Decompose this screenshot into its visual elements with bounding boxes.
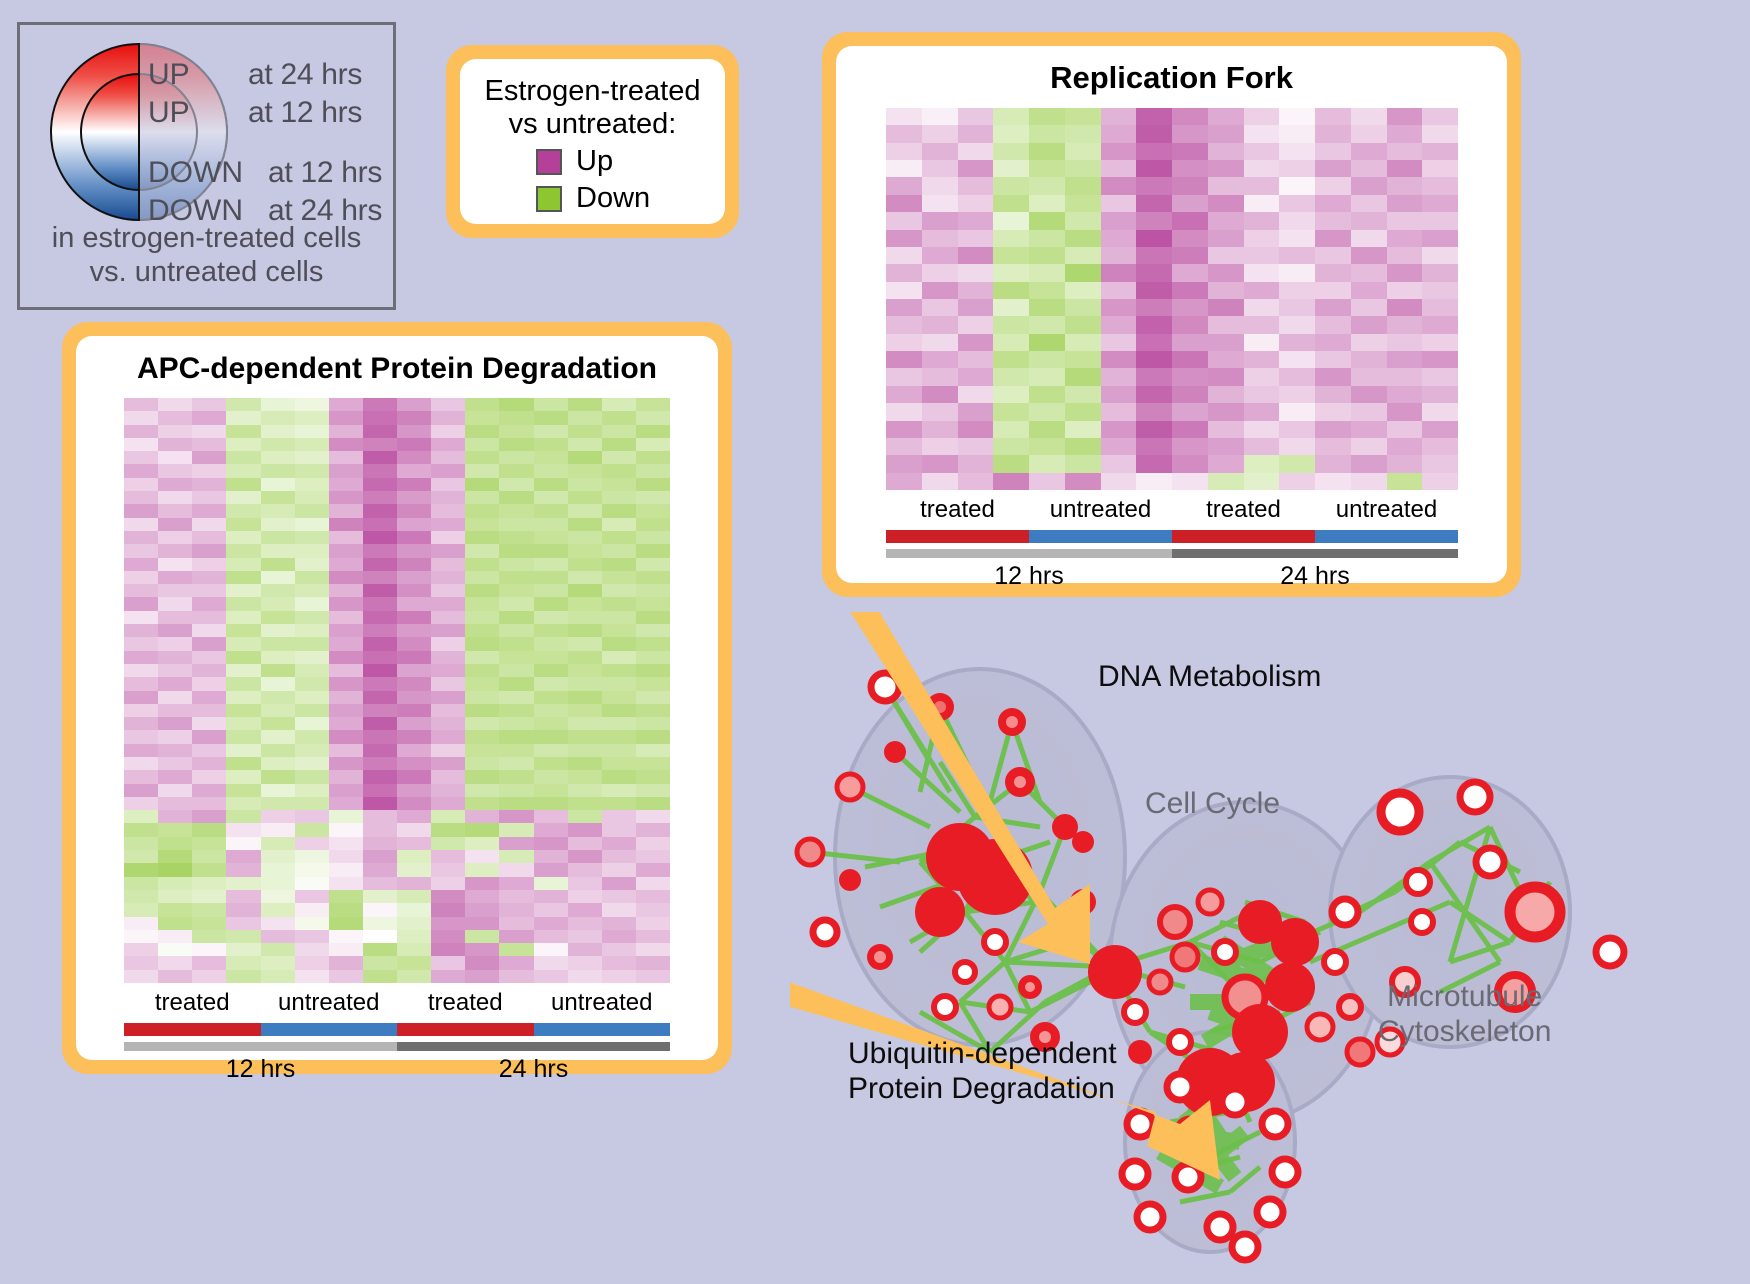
heatmap-cell [499, 584, 533, 597]
heatmap-cell [636, 584, 670, 597]
heatmap-group-label: treated [397, 989, 534, 1017]
heatmap-cell [261, 637, 295, 650]
heatmap-cell [636, 837, 670, 850]
legend-note-line2: vs. untreated cells [20, 255, 393, 289]
heatmap-cell [158, 903, 192, 916]
heatmap-cell [261, 677, 295, 690]
heatmap-cell [568, 930, 602, 943]
heatmap-cell [295, 558, 329, 571]
heatmap-cell [465, 518, 499, 531]
heatmap-cell [397, 558, 431, 571]
heatmap-cell [1279, 368, 1315, 385]
heatmap-cell [1101, 334, 1137, 351]
heatmap-cell [636, 770, 670, 783]
heatmap-cell [329, 478, 363, 491]
heatmap-cell [568, 464, 602, 477]
heatmap-cell [295, 611, 329, 624]
updown-legend-panel: Estrogen-treated vs untreated: Up Down [446, 45, 739, 238]
heatmap-cell [958, 143, 994, 160]
heatmap-cell [397, 970, 431, 983]
heatmap-cell [1422, 403, 1458, 420]
heatmap-cell [261, 956, 295, 969]
heatmap-cell [636, 451, 670, 464]
heatmap-cell [1315, 264, 1351, 281]
heatmap-cell [363, 704, 397, 717]
heatmap-cell [1208, 282, 1244, 299]
heatmap-cell [465, 757, 499, 770]
heatmap-cell [636, 930, 670, 943]
heatmap-cell [1136, 455, 1172, 472]
heatmap-cell [261, 491, 295, 504]
heatmap-cell [534, 717, 568, 730]
heatmap-cell [534, 903, 568, 916]
heatmap-cell [226, 744, 260, 757]
heatmap-cell [568, 704, 602, 717]
heatmap-cell [568, 970, 602, 983]
heatmap-cell [363, 823, 397, 836]
heatmap-cell [1101, 438, 1137, 455]
heatmap-cell [993, 438, 1029, 455]
heatmap-cell [993, 195, 1029, 212]
cluster-label-microtubule: Microtubule Cytoskeleton [1378, 980, 1551, 1050]
heatmap-cell [397, 677, 431, 690]
heatmap-cell [1422, 386, 1458, 403]
heatmap-cell [602, 518, 636, 531]
heatmap-cell [1422, 160, 1458, 177]
heatmap-cell [568, 917, 602, 930]
heatmap-cell [1029, 160, 1065, 177]
heatmap-cell [124, 890, 158, 903]
heatmap-cell [465, 491, 499, 504]
heatmap-cell [1065, 160, 1101, 177]
heatmap-cell [1208, 438, 1244, 455]
heatmap-cell [1279, 334, 1315, 351]
heatmap-cell [1029, 473, 1065, 490]
heatmap-cell [465, 903, 499, 916]
heatmap-cell [363, 863, 397, 876]
heatmap-cell [1065, 421, 1101, 438]
heatmap-cell [261, 810, 295, 823]
heatmap-cell [397, 890, 431, 903]
heatmap-cell [397, 930, 431, 943]
heatmap-cell [397, 597, 431, 610]
heatmap-cell [192, 398, 226, 411]
heatmap-cell [993, 455, 1029, 472]
heatmap-cell [1387, 160, 1423, 177]
heatmap-cell [499, 411, 533, 424]
heatmap-cell [431, 597, 465, 610]
heatmap-cell [295, 744, 329, 757]
heatmap-cell [958, 473, 994, 490]
heatmap-cell [1136, 264, 1172, 281]
heatmap-cell [1101, 455, 1137, 472]
heatmap-cell [636, 970, 670, 983]
heatmap-cell [329, 704, 363, 717]
heatmap-cell [602, 784, 636, 797]
heatmap-cell [465, 478, 499, 491]
heatmap-cell [124, 757, 158, 770]
up-label: Up [576, 145, 613, 178]
heatmap-cell [1172, 299, 1208, 316]
heatmap-cell [886, 143, 922, 160]
heatmap-cell [534, 464, 568, 477]
heatmap-cell [499, 850, 533, 863]
heatmap-cell [192, 411, 226, 424]
replication-fork-group-labels: treateduntreatedtreateduntreated [886, 496, 1458, 524]
heatmap-cell [192, 637, 226, 650]
heatmap-cell [158, 863, 192, 876]
heatmap-cell [1422, 264, 1458, 281]
heatmap-cell [192, 823, 226, 836]
treatment-color-bar-segment [1029, 530, 1172, 543]
heatmap-cell [568, 717, 602, 730]
heatmap-cell [602, 664, 636, 677]
heatmap-cell [602, 903, 636, 916]
heatmap-cell [1387, 282, 1423, 299]
heatmap-cell [226, 943, 260, 956]
heatmap-cell [1065, 386, 1101, 403]
heatmap-cell [636, 717, 670, 730]
heatmap-time-label: 12 hrs [886, 562, 1172, 591]
heatmap-cell [534, 943, 568, 956]
heatmap-cell [397, 704, 431, 717]
heatmap-cell [124, 810, 158, 823]
heatmap-cell [499, 637, 533, 650]
heatmap-cell [261, 970, 295, 983]
heatmap-cell [363, 624, 397, 637]
heatmap-cell [1387, 125, 1423, 142]
heatmap-cell [1136, 230, 1172, 247]
treatment-color-bar-segment [261, 1023, 398, 1036]
heatmap-cell [158, 544, 192, 557]
heatmap-cell [1422, 473, 1458, 490]
heatmap-cell [922, 473, 958, 490]
heatmap-cell [1351, 438, 1387, 455]
heatmap-cell [568, 518, 602, 531]
heatmap-cell [1422, 177, 1458, 194]
heatmap-cell [499, 504, 533, 517]
heatmap-cell [192, 863, 226, 876]
heatmap-cell [465, 770, 499, 783]
heatmap-cell [1208, 177, 1244, 194]
heatmap-cell [295, 651, 329, 664]
heatmap-cell [1279, 212, 1315, 229]
heatmap-cell [1351, 334, 1387, 351]
heatmap-cell [1172, 282, 1208, 299]
legend-item-down: Down [536, 182, 725, 215]
heatmap-cell [1136, 160, 1172, 177]
heatmap-cell [295, 970, 329, 983]
heatmap-cell [431, 677, 465, 690]
heatmap-cell [226, 438, 260, 451]
heatmap-cell [1279, 351, 1315, 368]
heatmap-cell [363, 691, 397, 704]
heatmap-cell [534, 504, 568, 517]
heatmap-cell [397, 823, 431, 836]
heatmap-cell [363, 425, 397, 438]
heatmap-cell [295, 504, 329, 517]
heatmap-cell [124, 863, 158, 876]
heatmap-cell [465, 850, 499, 863]
heatmap-cell [124, 425, 158, 438]
heatmap-cell [158, 930, 192, 943]
heatmap-cell [295, 784, 329, 797]
heatmap-cell [1101, 212, 1137, 229]
heatmap-cell [499, 943, 533, 956]
heatmap-cell [1279, 160, 1315, 177]
heatmap-cell [1136, 177, 1172, 194]
heatmap-cell [534, 425, 568, 438]
heatmap-cell [363, 597, 397, 610]
heatmap-cell [261, 730, 295, 743]
heatmap-cell [568, 425, 602, 438]
heatmap-cell [1136, 195, 1172, 212]
updown-title-line2: vs untreated: [460, 108, 725, 141]
heatmap-cell [295, 518, 329, 531]
cluster-label-ubiquitin: Ubiquitin-dependent Protein Degradation [848, 1037, 1117, 1107]
heatmap-cell [1065, 299, 1101, 316]
heatmap-cell [363, 651, 397, 664]
heatmap-cell [499, 451, 533, 464]
heatmap-cell [124, 917, 158, 930]
heatmap-group-label: untreated [1029, 496, 1172, 524]
heatmap-cell [1136, 299, 1172, 316]
heatmap-cell [158, 637, 192, 650]
heatmap-cell [1244, 195, 1280, 212]
heatmap-cell [922, 299, 958, 316]
heatmap-cell [534, 930, 568, 943]
heatmap-cell [329, 464, 363, 477]
heatmap-cell [158, 597, 192, 610]
heatmap-cell [886, 403, 922, 420]
heatmap-cell [568, 823, 602, 836]
heatmap-cell [534, 438, 568, 451]
heatmap-cell [431, 451, 465, 464]
heatmap-cell [636, 784, 670, 797]
heatmap-cell [568, 744, 602, 757]
heatmap-cell [1136, 282, 1172, 299]
heatmap-cell [192, 797, 226, 810]
heatmap-cell [1279, 386, 1315, 403]
heatmap-cell [1315, 247, 1351, 264]
heatmap-cell [226, 837, 260, 850]
heatmap-cell [226, 691, 260, 704]
heatmap-cell [958, 125, 994, 142]
heatmap-cell [431, 544, 465, 557]
heatmap-cell [602, 611, 636, 624]
heatmap-cell [1315, 438, 1351, 455]
heatmap-cell [295, 425, 329, 438]
heatmap-cell [1315, 386, 1351, 403]
heatmap-group-label: untreated [534, 989, 671, 1017]
heatmap-cell [568, 877, 602, 890]
treatment-color-bar-segment [1172, 530, 1315, 543]
heatmap-cell [397, 797, 431, 810]
heatmap-cell [602, 637, 636, 650]
heatmap-cell [192, 890, 226, 903]
heatmap-cell [993, 177, 1029, 194]
heatmap-cell [261, 691, 295, 704]
apc-heatmap [124, 398, 670, 983]
heatmap-cell [602, 810, 636, 823]
heatmap-cell [534, 784, 568, 797]
heatmap-cell [431, 863, 465, 876]
heatmap-cell [1387, 455, 1423, 472]
heatmap-cell [993, 351, 1029, 368]
heatmap-cell [226, 451, 260, 464]
treatment-color-bar-segment [124, 1023, 261, 1036]
heatmap-cell [192, 611, 226, 624]
heatmap-cell [1422, 299, 1458, 316]
heatmap-cell [534, 597, 568, 610]
heatmap-cell [1315, 368, 1351, 385]
heatmap-cell [922, 403, 958, 420]
heatmap-cell [1387, 351, 1423, 368]
heatmap-cell [329, 531, 363, 544]
heatmap-cell [295, 890, 329, 903]
heatmap-cell [1172, 212, 1208, 229]
heatmap-cell [499, 664, 533, 677]
heatmap-cell [886, 108, 922, 125]
heatmap-cell [226, 597, 260, 610]
heatmap-cell [1279, 316, 1315, 333]
heatmap-cell [1101, 282, 1137, 299]
heatmap-cell [886, 212, 922, 229]
heatmap-cell [1172, 264, 1208, 281]
heatmap-cell [329, 398, 363, 411]
heatmap-cell [1029, 247, 1065, 264]
heatmap-cell [1244, 316, 1280, 333]
heatmap-cell [922, 351, 958, 368]
heatmap-cell [499, 903, 533, 916]
heatmap-cell [1065, 177, 1101, 194]
heatmap-cell [158, 624, 192, 637]
heatmap-cell [499, 438, 533, 451]
heatmap-cell [636, 677, 670, 690]
heatmap-cell [568, 943, 602, 956]
heatmap-cell [1279, 264, 1315, 281]
heatmap-cell [1208, 212, 1244, 229]
heatmap-cell [534, 704, 568, 717]
heatmap-cell [636, 757, 670, 770]
heatmap-cell [1101, 125, 1137, 142]
heatmap-cell [1387, 212, 1423, 229]
heatmap-cell [192, 770, 226, 783]
heatmap-cell [1315, 195, 1351, 212]
heatmap-cell [1244, 125, 1280, 142]
heatmap-cell [958, 177, 994, 194]
heatmap-cell [636, 438, 670, 451]
heatmap-cell [499, 597, 533, 610]
heatmap-cell [465, 837, 499, 850]
heatmap-cell [499, 757, 533, 770]
heatmap-cell [397, 956, 431, 969]
arrows-svg [790, 612, 1750, 1279]
heatmap-cell [192, 451, 226, 464]
heatmap-cell [431, 903, 465, 916]
heatmap-cell [534, 571, 568, 584]
heatmap-cell [1315, 299, 1351, 316]
heatmap-cell [158, 970, 192, 983]
ring-divider-line [138, 43, 140, 221]
heatmap-cell [922, 160, 958, 177]
heatmap-cell [1136, 473, 1172, 490]
heatmap-cell [1172, 334, 1208, 351]
heatmap-cell [226, 717, 260, 730]
heatmap-cell [534, 850, 568, 863]
heatmap-cell [499, 970, 533, 983]
heatmap-cell [431, 917, 465, 930]
heatmap-cell [158, 770, 192, 783]
heatmap-cell [397, 531, 431, 544]
legend-item-up: Up [536, 145, 725, 178]
heatmap-cell [295, 903, 329, 916]
heatmap-cell [602, 850, 636, 863]
heatmap-cell [1136, 351, 1172, 368]
heatmap-cell [363, 637, 397, 650]
heatmap-cell [124, 664, 158, 677]
heatmap-cell [1172, 177, 1208, 194]
heatmap-cell [158, 823, 192, 836]
heatmap-cell [261, 890, 295, 903]
heatmap-cell [602, 624, 636, 637]
heatmap-cell [431, 464, 465, 477]
heatmap-cell [431, 810, 465, 823]
heatmap-cell [1208, 299, 1244, 316]
heatmap-cell [124, 956, 158, 969]
heatmap-cell [226, 890, 260, 903]
heatmap-cell [158, 810, 192, 823]
heatmap-cell [397, 637, 431, 650]
heatmap-cell [465, 704, 499, 717]
heatmap-cell [124, 823, 158, 836]
heatmap-cell [1244, 334, 1280, 351]
heatmap-cell [499, 531, 533, 544]
heatmap-cell [993, 108, 1029, 125]
heatmap-cell [431, 770, 465, 783]
heatmap-cell [1351, 247, 1387, 264]
heatmap-cell [1208, 386, 1244, 403]
heatmap-cell [1065, 368, 1101, 385]
heatmap-cell [886, 334, 922, 351]
heatmap-cell [124, 877, 158, 890]
heatmap-cell [1029, 455, 1065, 472]
heatmap-cell [431, 704, 465, 717]
heatmap-cell [363, 917, 397, 930]
heatmap-cell [1387, 247, 1423, 264]
heatmap-cell [1244, 282, 1280, 299]
heatmap-cell [1351, 143, 1387, 160]
heatmap-cell [602, 770, 636, 783]
heatmap-cell [397, 544, 431, 557]
heatmap-cell [568, 584, 602, 597]
heatmap-cell [295, 411, 329, 424]
heatmap-cell [568, 837, 602, 850]
heatmap-cell [534, 664, 568, 677]
updown-legend-inner: Estrogen-treated vs untreated: Up Down [460, 59, 725, 224]
heatmap-cell [465, 411, 499, 424]
heatmap-cell [534, 837, 568, 850]
heatmap-cell [192, 531, 226, 544]
heatmap-cell [124, 970, 158, 983]
heatmap-cell [534, 970, 568, 983]
heatmap-cell [465, 637, 499, 650]
heatmap-cell [499, 571, 533, 584]
heatmap-cell [465, 584, 499, 597]
heatmap-cell [922, 421, 958, 438]
heatmap-cell [329, 544, 363, 557]
heatmap-cell [295, 398, 329, 411]
